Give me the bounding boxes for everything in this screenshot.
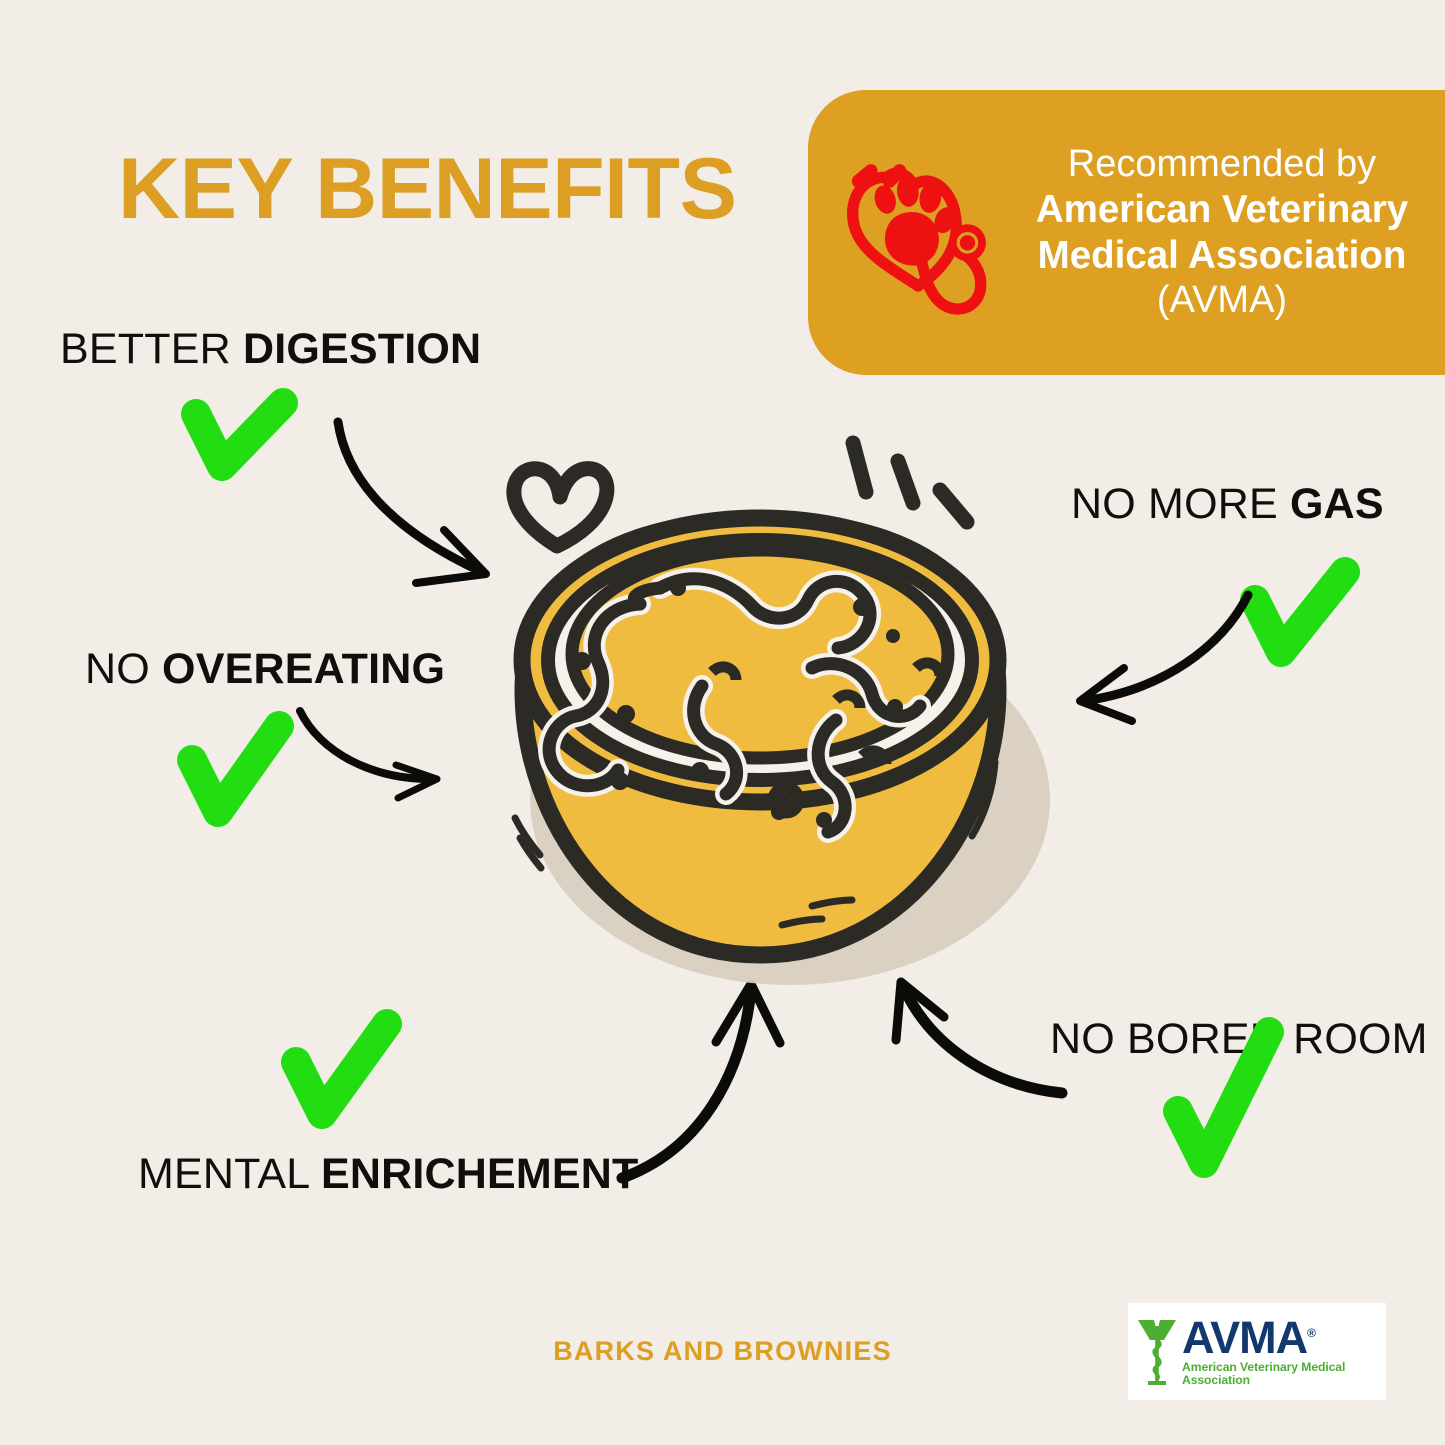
avma-wordmark: AVMA® bbox=[1182, 1317, 1315, 1358]
arrow-enrichment-to-bowl bbox=[622, 984, 780, 1178]
caduceus-icon bbox=[1134, 1316, 1180, 1388]
arrow-bored-to-bowl bbox=[896, 982, 1062, 1093]
avma-word-text: AVMA bbox=[1182, 1312, 1307, 1363]
dog-bowl-illustration bbox=[515, 518, 1050, 985]
registered-mark: ® bbox=[1307, 1326, 1315, 1340]
avma-tagline: American Veterinary Medical Association bbox=[1182, 1361, 1380, 1385]
illustration-layer bbox=[0, 0, 1445, 1445]
check-icon-enrichment bbox=[296, 1024, 387, 1114]
heart-doodle-icon bbox=[514, 469, 607, 546]
arrow-overeating-to-bowl bbox=[300, 711, 437, 798]
infographic-canvas: KEY BENEFITS bbox=[0, 0, 1445, 1445]
check-icon-digestion bbox=[196, 403, 283, 466]
arrow-gas-to-bowl bbox=[1080, 595, 1248, 721]
arrow-digestion-to-bowl bbox=[338, 422, 486, 583]
bowl-food-surface bbox=[572, 550, 948, 758]
check-icon-overeating bbox=[192, 726, 279, 812]
avma-logo: AVMA® American Veterinary Medical Associ… bbox=[1128, 1303, 1386, 1400]
sparkle-lines-icon bbox=[853, 443, 967, 522]
check-icon-bored bbox=[1178, 1032, 1269, 1163]
check-icon-gas bbox=[1255, 572, 1345, 652]
